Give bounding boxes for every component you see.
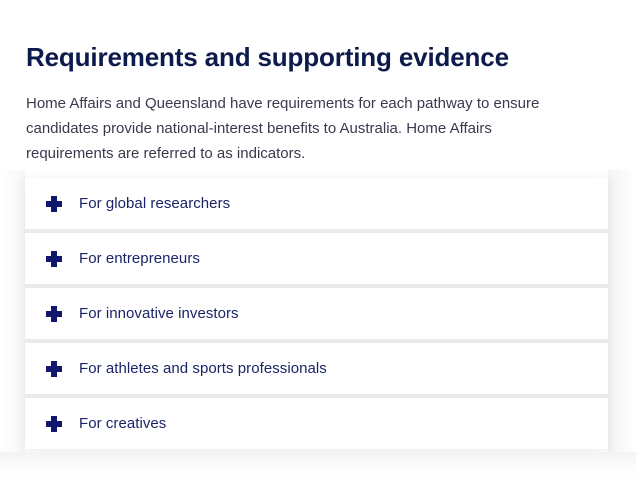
plus-icon: [46, 306, 62, 322]
accordion-item-label: For entrepreneurs: [79, 249, 200, 269]
requirements-accordion: For global researchers For entrepreneurs…: [25, 178, 608, 449]
accordion-item-label: For global researchers: [79, 194, 230, 214]
accordion-header-global-researchers[interactable]: For global researchers: [25, 178, 608, 229]
accordion-header-innovative-investors[interactable]: For innovative investors: [25, 288, 608, 339]
accordion-item-creatives: For creatives: [25, 398, 608, 449]
plus-icon: [46, 361, 62, 377]
accordion-header-creatives[interactable]: For creatives: [25, 398, 608, 449]
bottom-edge-shading: [0, 452, 636, 479]
accordion-item-innovative-investors: For innovative investors: [25, 288, 608, 343]
right-edge-shading: [608, 170, 636, 455]
accordion-item-label: For innovative investors: [79, 304, 239, 324]
page-container: Requirements and supporting evidence Hom…: [0, 0, 636, 479]
accordion-item-global-researchers: For global researchers: [25, 178, 608, 233]
accordion-header-entrepreneurs[interactable]: For entrepreneurs: [25, 233, 608, 284]
page-title: Requirements and supporting evidence: [26, 0, 610, 74]
plus-icon: [46, 251, 62, 267]
intro-section: Requirements and supporting evidence Hom…: [0, 0, 636, 166]
plus-icon: [46, 196, 62, 212]
accordion-item-athletes-sports-professionals: For athletes and sports professionals: [25, 343, 608, 398]
accordion-header-athletes-sports-professionals[interactable]: For athletes and sports professionals: [25, 343, 608, 394]
accordion-item-entrepreneurs: For entrepreneurs: [25, 233, 608, 288]
intro-paragraph: Home Affairs and Queensland have require…: [26, 74, 571, 166]
left-edge-shading: [0, 170, 25, 455]
plus-icon: [46, 416, 62, 432]
accordion-item-label: For athletes and sports professionals: [79, 359, 327, 379]
accordion-item-label: For creatives: [79, 414, 166, 434]
